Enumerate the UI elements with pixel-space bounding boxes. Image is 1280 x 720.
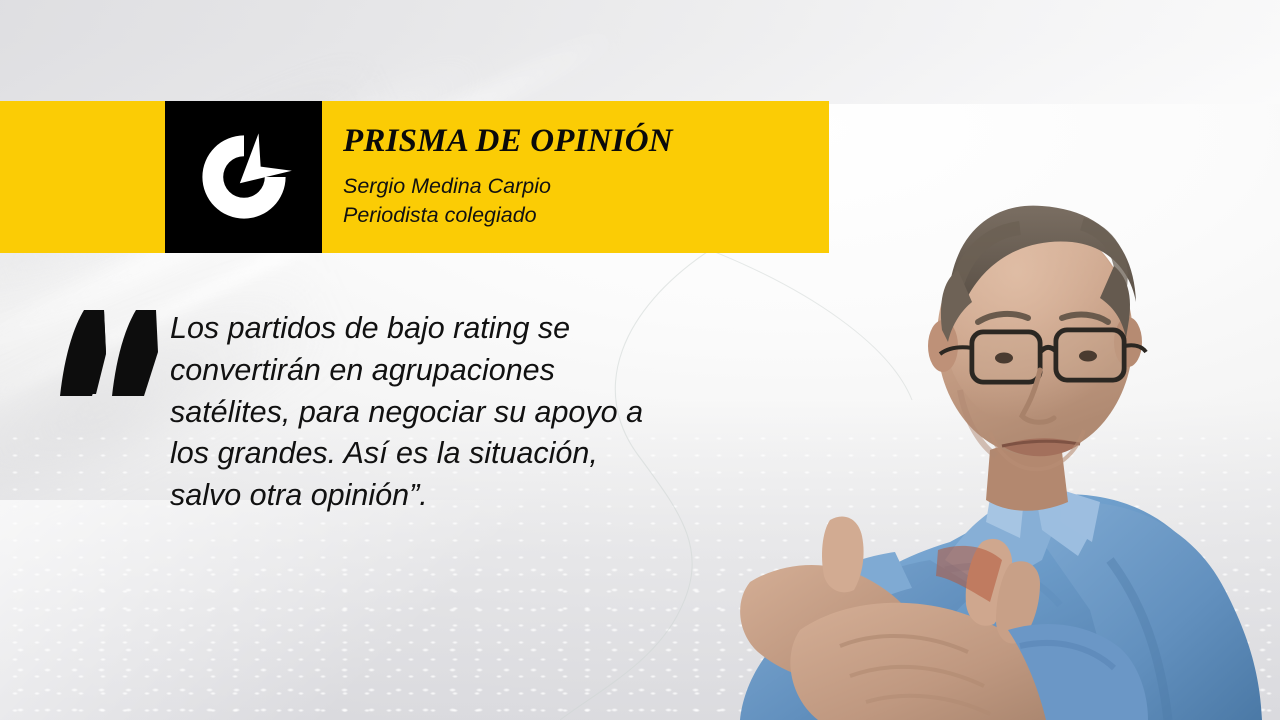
logo-container bbox=[165, 101, 322, 253]
author-role: Periodista colegiado bbox=[343, 201, 829, 229]
quote-block: Los partidos de bajo rating se convertir… bbox=[60, 300, 700, 517]
page-title: PRISMA DE OPINIÓN bbox=[343, 125, 829, 158]
banner-text-block: PRISMA DE OPINIÓN Sergio Medina Carpio P… bbox=[322, 101, 829, 253]
header-banner: PRISMA DE OPINIÓN Sergio Medina Carpio P… bbox=[0, 101, 829, 253]
banner-left-spacer bbox=[0, 101, 165, 253]
double-quote-open-icon bbox=[60, 308, 170, 400]
background-top-band bbox=[0, 0, 1280, 104]
prisma-arrow-logo-icon bbox=[192, 125, 296, 229]
promo-graphic-canvas: PRISMA DE OPINIÓN Sergio Medina Carpio P… bbox=[0, 0, 1280, 720]
quote-text: Los partidos de bajo rating se convertir… bbox=[170, 308, 670, 517]
author-name: Sergio Medina Carpio bbox=[343, 172, 829, 200]
